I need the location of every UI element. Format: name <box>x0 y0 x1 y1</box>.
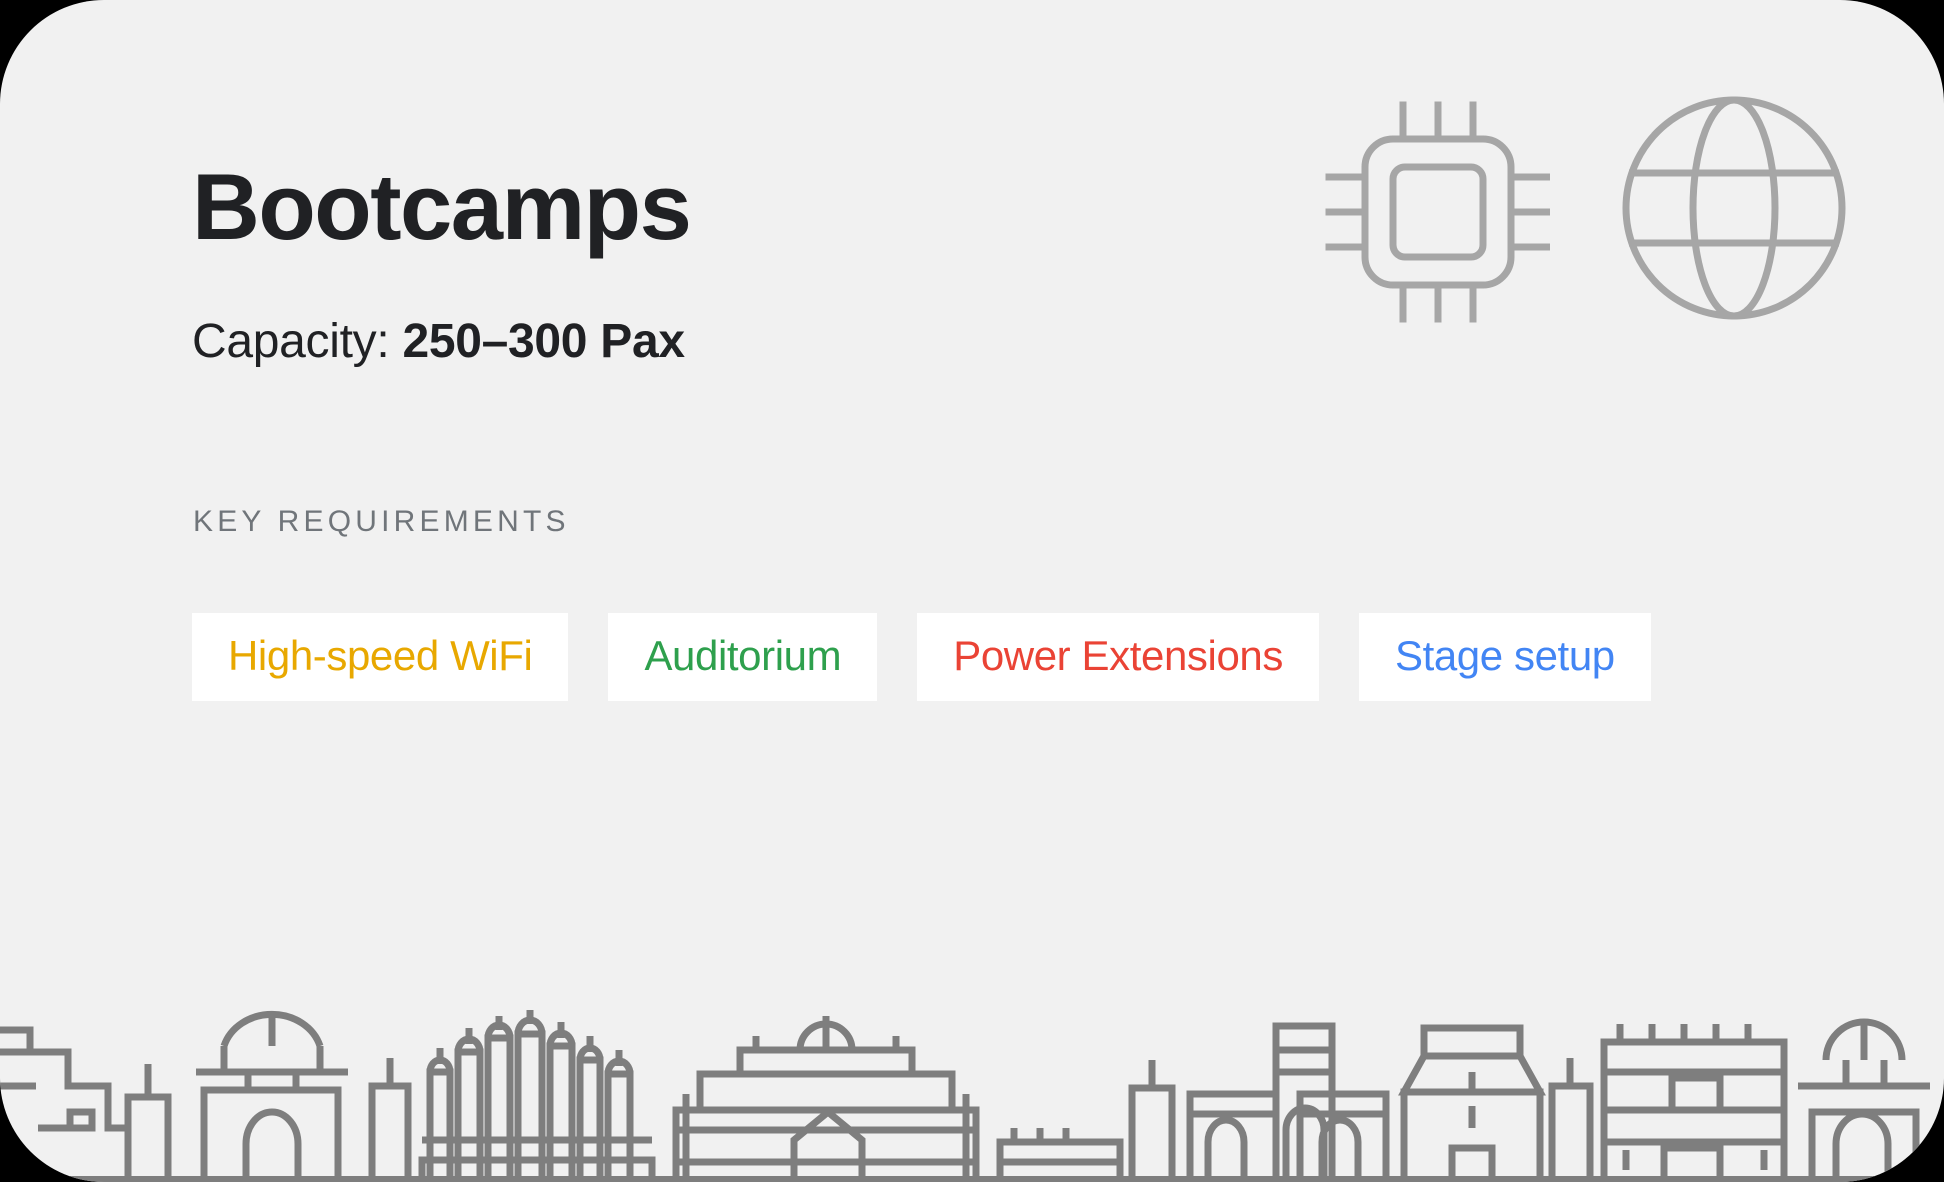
globe-icon <box>1610 88 1858 328</box>
venue-info-card: Bootcamps Capacity: 250–300 Pax <box>0 0 1944 1182</box>
page-title: Bootcamps <box>192 160 690 254</box>
icon-cluster <box>1325 88 1858 328</box>
requirement-chip-label: High-speed WiFi <box>228 634 532 678</box>
requirement-chip[interactable]: Power Extensions <box>917 613 1319 701</box>
requirement-chip-label: Power Extensions <box>953 634 1283 678</box>
requirement-chip-label: Stage setup <box>1395 634 1615 678</box>
chip-icon <box>1325 91 1550 326</box>
capacity-value: 250–300 Pax <box>402 315 684 368</box>
key-requirements-label: KEY REQUIREMENTS <box>193 505 570 539</box>
city-skyline-decoration <box>0 1002 1944 1182</box>
requirement-chip[interactable]: Auditorium <box>608 613 877 701</box>
capacity-label: Capacity: <box>192 315 402 368</box>
capacity-line: Capacity: 250–300 Pax <box>192 318 685 366</box>
requirement-chip[interactable]: Stage setup <box>1359 613 1651 701</box>
requirements-chip-list: High-speed WiFi Auditorium Power Extensi… <box>192 613 1864 701</box>
requirement-chip-label: Auditorium <box>644 634 841 678</box>
requirement-chip[interactable]: High-speed WiFi <box>192 613 568 701</box>
